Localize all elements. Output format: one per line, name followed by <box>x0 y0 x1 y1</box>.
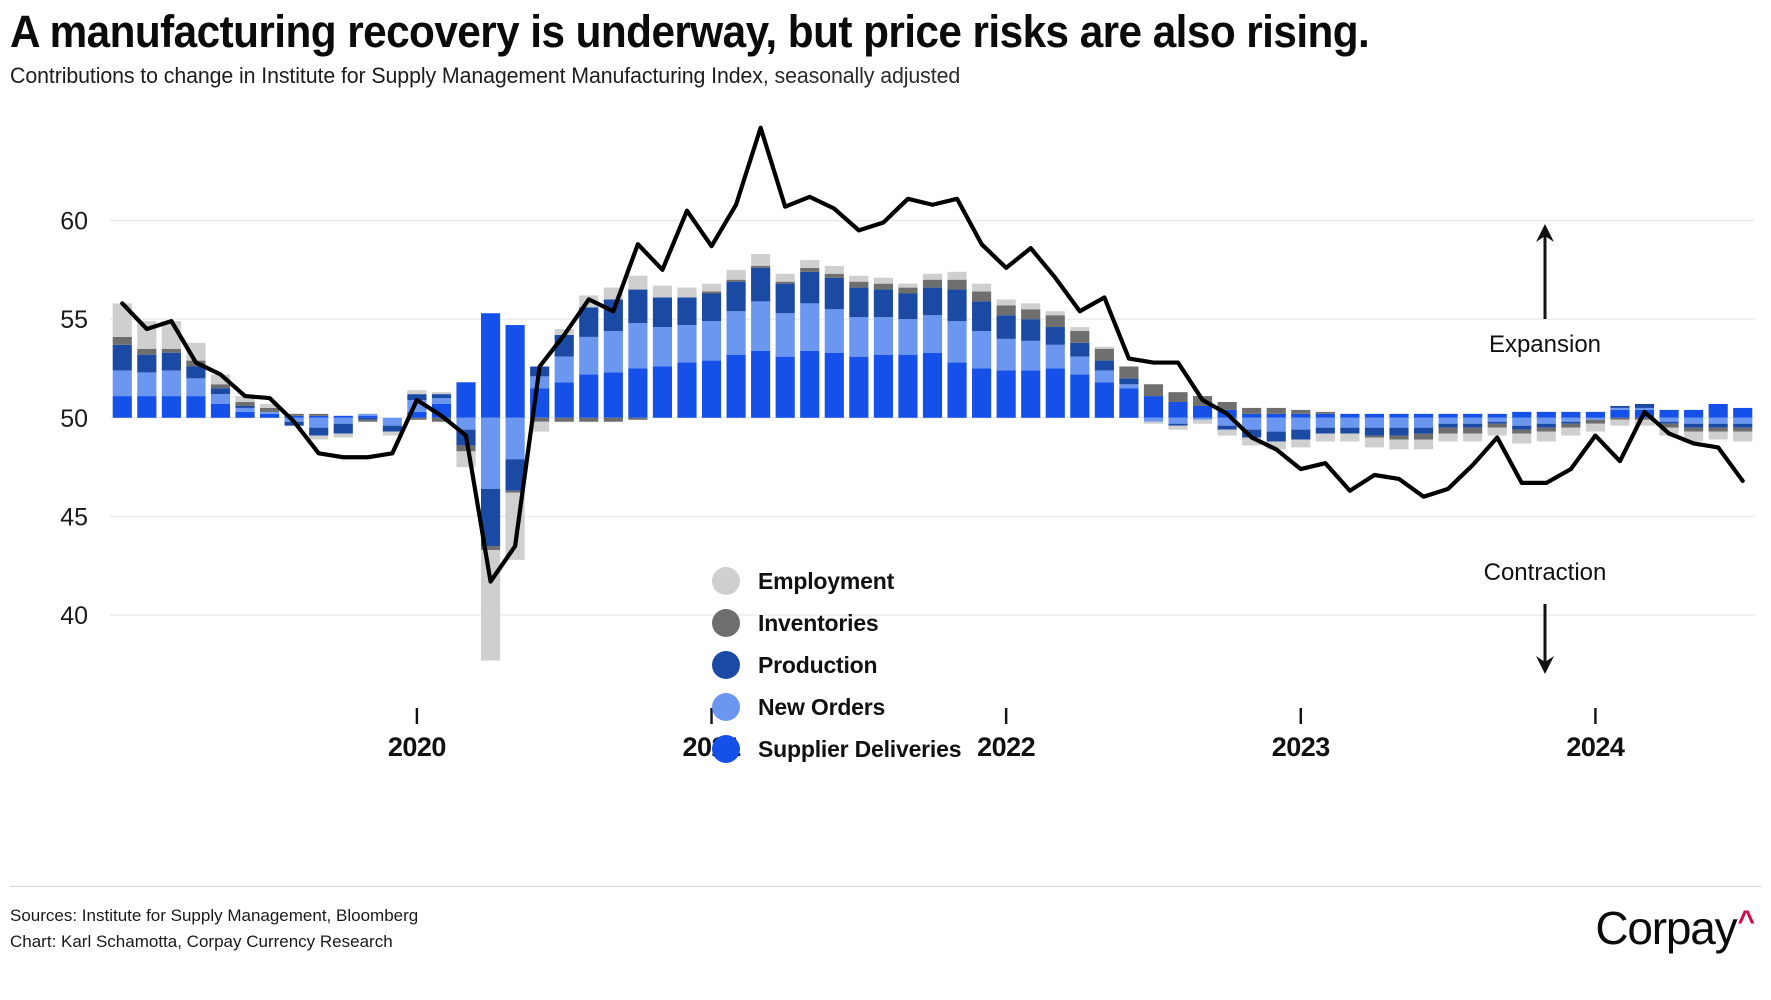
bar-segment <box>1095 370 1114 382</box>
bar-segment <box>923 280 942 288</box>
bar-segment <box>1193 418 1212 420</box>
bar-segment <box>1144 396 1163 418</box>
bar-segment <box>923 315 942 352</box>
bar-segment <box>1512 434 1531 444</box>
bar-segment <box>1635 404 1654 408</box>
bar-segment <box>456 382 475 418</box>
bar-segment <box>898 294 917 320</box>
bar-segment <box>628 276 647 290</box>
bar-segment <box>383 426 402 432</box>
bar-segment <box>579 374 598 417</box>
bar-segment <box>1659 410 1678 418</box>
bar-segment <box>898 319 917 355</box>
bar-segment <box>1291 430 1310 440</box>
bar-segment <box>1316 428 1335 434</box>
bar-segment <box>1512 418 1531 426</box>
bar-segment <box>1119 384 1138 388</box>
bar-segment <box>1389 414 1408 418</box>
bar-segment <box>604 418 623 422</box>
bar-segment <box>1095 347 1114 349</box>
bar-segment <box>727 280 746 282</box>
bar-segment <box>1733 432 1752 442</box>
legend-swatch-icon <box>712 567 740 595</box>
bar-segment <box>579 337 598 374</box>
bar-segment <box>653 327 672 366</box>
bar-segment <box>1414 428 1433 434</box>
bar-segment <box>235 408 254 412</box>
bar-segment <box>800 272 819 304</box>
y-axis-tick-label: 60 <box>60 208 88 236</box>
bar-segment <box>1389 436 1408 440</box>
bar-segment <box>997 315 1016 339</box>
bar-segment <box>776 274 795 282</box>
bar-segment <box>727 282 746 312</box>
bar-segment <box>653 297 672 327</box>
bar-segment <box>235 412 254 418</box>
brand-caret-icon: ^ <box>1737 907 1755 937</box>
bar-segment <box>186 367 205 379</box>
bar-segment <box>1414 434 1433 440</box>
bar-segment <box>162 370 181 396</box>
bar-segment <box>1709 432 1728 440</box>
legend-swatch-icon <box>712 609 740 637</box>
legend-item[interactable]: Production <box>712 644 1042 686</box>
bar-segment <box>334 434 353 438</box>
bar-segment <box>1439 434 1458 442</box>
x-axis-tick-label: 2024 <box>1566 732 1625 762</box>
bar-segment <box>751 268 770 302</box>
bar-segment <box>1561 428 1580 436</box>
legend-item-label: Supplier Deliveries <box>758 736 961 763</box>
bar-segment <box>1586 420 1605 424</box>
bar-segment <box>1610 418 1629 420</box>
bar-segment <box>1119 378 1138 384</box>
bar-segment <box>555 418 574 422</box>
bar-segment <box>677 288 696 298</box>
bar-segment <box>702 321 721 360</box>
x-axis-tick-label: 2023 <box>1272 732 1331 762</box>
bar-segment <box>898 284 917 288</box>
bar-segment <box>1291 418 1310 430</box>
bar-segment <box>653 286 672 298</box>
bar-segment <box>702 292 721 294</box>
bar-segment <box>1218 426 1237 430</box>
bar-segment <box>1291 414 1310 418</box>
bar-segment <box>1635 408 1654 410</box>
bar-segment <box>1168 426 1187 430</box>
bar-segment <box>1046 315 1065 327</box>
bar-segment <box>1242 414 1261 418</box>
bar-segment <box>260 408 279 412</box>
bar-segment <box>825 353 844 418</box>
bar-segment <box>874 284 893 290</box>
bar-segment <box>506 418 525 459</box>
legend-item-label: Inventories <box>758 610 879 637</box>
bar-segment <box>235 406 254 408</box>
bar-segment <box>1242 408 1261 414</box>
bar-segment <box>358 418 377 420</box>
bar-segment <box>947 272 966 280</box>
bar-segment <box>1365 436 1384 438</box>
bar-segment <box>1316 418 1335 428</box>
bar-segment <box>898 288 917 294</box>
bar-segment <box>309 428 328 436</box>
bar-segment <box>727 270 746 280</box>
legend-swatch-icon <box>712 651 740 679</box>
bar-segment <box>358 414 377 416</box>
subtitle-tail: , seasonally adjusted <box>763 63 960 88</box>
y-axis-tick-label: 40 <box>60 602 88 630</box>
bar-segment <box>1439 424 1458 428</box>
bar-segment <box>1070 357 1089 375</box>
bar-segment <box>825 309 844 352</box>
bar-segment <box>113 337 132 345</box>
bar-segment <box>849 276 868 282</box>
bar-segment <box>1365 414 1384 418</box>
bar-segment <box>1488 428 1507 436</box>
bar-segment <box>1267 408 1286 414</box>
page-title: A manufacturing recovery is underway, bu… <box>10 8 1646 55</box>
bar-segment <box>1267 418 1286 432</box>
bar-segment <box>972 284 991 292</box>
bar-segment <box>1340 434 1359 442</box>
bar-segment <box>1316 434 1335 442</box>
bar-segment <box>1537 424 1556 428</box>
bar-segment <box>972 368 991 417</box>
bar-segment <box>1095 349 1114 361</box>
bar-segment <box>1021 341 1040 371</box>
bar-segment <box>1488 418 1507 422</box>
expansion-label: Expansion <box>1489 331 1601 358</box>
bar-segment <box>1709 404 1728 418</box>
bar-segment <box>628 368 647 417</box>
bar-segment <box>1291 410 1310 414</box>
bar-segment <box>997 339 1016 371</box>
bar-segment <box>1365 438 1384 448</box>
bar-segment <box>825 266 844 274</box>
bar-segment <box>1463 414 1482 418</box>
bar-segment <box>947 363 966 418</box>
bar-segment <box>604 299 623 331</box>
bar-segment <box>1365 418 1384 428</box>
bar-segment <box>358 420 377 422</box>
bar-segment <box>849 357 868 418</box>
bar-segment <box>1684 424 1703 428</box>
bar-segment <box>1610 408 1629 410</box>
bar-segment <box>555 357 574 383</box>
bar-segment <box>849 282 868 288</box>
bar-segment <box>211 384 230 388</box>
bar-segment <box>1168 424 1187 426</box>
bar-segment <box>1119 367 1138 379</box>
bar-segment <box>334 418 353 424</box>
bar-segment <box>1586 412 1605 418</box>
bar-segment <box>1537 432 1556 442</box>
bar-segment <box>677 363 696 418</box>
bar-segment <box>432 392 451 394</box>
bar-segment <box>1046 368 1065 417</box>
bar-segment <box>972 331 991 368</box>
sources-line-1: Sources: Institute for Supply Management… <box>10 903 418 929</box>
bar-segment <box>1610 410 1629 418</box>
bar-segment <box>800 303 819 350</box>
bar-segment <box>211 394 230 404</box>
bar-segment <box>1168 418 1187 424</box>
bar-segment <box>1488 422 1507 424</box>
bar-segment <box>1144 384 1163 396</box>
bar-segment <box>1267 432 1286 442</box>
bar-segment <box>947 290 966 322</box>
bar-segment <box>1119 388 1138 418</box>
bar-segment <box>947 280 966 290</box>
bar-segment <box>1168 392 1187 402</box>
bar-segment <box>1439 418 1458 424</box>
bar-segment <box>874 317 893 354</box>
bar-segment <box>1242 418 1261 430</box>
bar-segment <box>751 254 770 266</box>
bar-segment <box>1414 418 1433 428</box>
bar-segment <box>1021 309 1040 319</box>
bar-segment <box>211 388 230 394</box>
bar-segment <box>1389 428 1408 436</box>
bar-segment <box>1316 412 1335 414</box>
bar-segment <box>555 382 574 418</box>
bar-segment <box>1414 414 1433 418</box>
bar-segment <box>653 367 672 418</box>
bar-segment <box>260 412 279 414</box>
bar-segment <box>1365 428 1384 436</box>
bar-segment <box>162 353 181 371</box>
bar-segment <box>800 268 819 272</box>
bar-segment <box>1537 418 1556 424</box>
bar-segment <box>1168 402 1187 418</box>
chart-header: A manufacturing recovery is underway, bu… <box>10 8 1750 89</box>
bar-segment <box>1537 412 1556 418</box>
bar-segment <box>1193 420 1212 424</box>
bar-segment <box>481 418 500 489</box>
bar-segment <box>113 370 132 396</box>
legend-swatch-icon <box>712 693 740 721</box>
bar-segment <box>628 290 647 324</box>
bar-segment <box>137 396 156 418</box>
bar-segment <box>1218 430 1237 436</box>
y-axis-tick-label: 45 <box>60 503 88 531</box>
bar-segment <box>1340 414 1359 418</box>
page-subtitle: Contributions to change in Institute for… <box>10 63 1698 89</box>
bar-segment <box>1439 428 1458 434</box>
bar-segment <box>1733 428 1752 432</box>
legend-item-label: New Orders <box>758 694 885 721</box>
bar-segment <box>1439 414 1458 418</box>
bar-segment <box>1610 406 1629 408</box>
legend-item-label: Employment <box>758 568 894 595</box>
bar-segment <box>432 394 451 398</box>
bar-segment <box>874 355 893 418</box>
bar-segment <box>727 311 746 354</box>
bar-segment <box>1070 331 1089 343</box>
x-axis-tick-label: 2020 <box>388 732 446 762</box>
bar-segment <box>776 357 795 418</box>
footer-divider <box>10 886 1761 887</box>
bar-segment <box>1561 418 1580 422</box>
bar-segment <box>1684 410 1703 418</box>
bar-segment <box>825 274 844 278</box>
bar-segment <box>186 396 205 418</box>
bar-segment <box>1561 422 1580 424</box>
bar-segment <box>1709 424 1728 428</box>
subtitle-main: Contributions to change in Institute for… <box>10 63 763 88</box>
y-axis-tick-labels: 4045505560 <box>60 208 88 631</box>
bar-segment <box>800 260 819 268</box>
bar-segment <box>113 396 132 418</box>
legend-item[interactable]: Employment <box>712 560 1042 602</box>
bar-segment <box>972 301 991 331</box>
sources-block: Sources: Institute for Supply Management… <box>10 903 418 954</box>
bar-segment <box>1537 428 1556 432</box>
bar-segment <box>432 398 451 404</box>
bar-segment <box>727 355 746 418</box>
bar-segment <box>898 355 917 418</box>
bar-segment <box>776 284 795 314</box>
bar-segment <box>751 301 770 350</box>
bar-segment <box>947 321 966 362</box>
bar-segment <box>1684 418 1703 424</box>
bar-segment <box>1046 327 1065 345</box>
bar-segment <box>702 361 721 418</box>
bar-segment <box>1659 422 1678 424</box>
bar-segment <box>997 305 1016 315</box>
bar-segment <box>358 416 377 418</box>
bar-segment <box>923 274 942 280</box>
bar-segment <box>997 299 1016 305</box>
bar-segment <box>628 418 647 420</box>
bar-segment <box>776 313 795 356</box>
bar-segment <box>604 331 623 372</box>
bar-segment <box>260 414 279 418</box>
bar-segment <box>309 418 328 428</box>
bar-segment <box>1512 426 1531 430</box>
bar-segment <box>972 292 991 302</box>
bar-segment <box>309 436 328 440</box>
bar-segment <box>1267 414 1286 418</box>
bar-segment <box>997 370 1016 417</box>
bar-segment <box>481 313 500 418</box>
legend-item[interactable]: New Orders <box>712 686 1042 728</box>
bar-segment <box>309 416 328 418</box>
bar-segment <box>186 378 205 396</box>
chart-legend: EmploymentInventoriesProductionNew Order… <box>712 560 1042 770</box>
bar-segment <box>776 282 795 284</box>
bar-segment <box>137 355 156 373</box>
bar-segment <box>137 349 156 355</box>
legend-item[interactable]: Inventories <box>712 602 1042 644</box>
y-axis-tick-label: 50 <box>60 405 88 433</box>
bar-segment <box>579 418 598 422</box>
bar-segment <box>506 325 525 418</box>
bar-segment <box>481 550 500 660</box>
y-axis-tick-label: 55 <box>60 306 88 334</box>
bar-segment <box>1733 408 1752 418</box>
bar-segment <box>1512 412 1531 418</box>
bar-segment <box>702 294 721 322</box>
bar-segment <box>1463 418 1482 424</box>
bar-segment <box>309 414 328 416</box>
bar-segment <box>137 372 156 396</box>
bar-segment <box>1659 418 1678 422</box>
bar-segment <box>849 317 868 356</box>
bar-segment <box>1733 424 1752 428</box>
bar-segment <box>1488 414 1507 418</box>
bar-segment <box>751 351 770 418</box>
bar-segment <box>874 278 893 284</box>
bar-segment <box>1463 434 1482 442</box>
bar-segment <box>407 390 426 394</box>
bar-segment <box>702 284 721 292</box>
bar-segment <box>1046 311 1065 315</box>
bar-segment <box>1340 428 1359 434</box>
bar-segment <box>1561 424 1580 428</box>
bar-segment <box>1463 428 1482 434</box>
bar-segment <box>1709 428 1728 432</box>
bar-segment <box>1070 327 1089 331</box>
sources-line-2: Chart: Karl Schamotta, Corpay Currency R… <box>10 929 418 955</box>
bar-segment <box>1021 303 1040 309</box>
bar-segment <box>383 418 402 426</box>
bar-segment <box>1144 422 1163 424</box>
bar-segment <box>334 416 353 418</box>
bar-segment <box>1512 430 1531 434</box>
bar-segment <box>677 325 696 362</box>
bar-segment <box>1684 428 1703 432</box>
bar-segment <box>923 353 942 418</box>
bar-segment <box>825 278 844 310</box>
bar-segment <box>1070 374 1089 417</box>
brand-name: Corpay <box>1595 905 1736 951</box>
bar-segment <box>1095 382 1114 418</box>
bar-segment <box>874 290 893 318</box>
bar-segment <box>677 297 696 325</box>
bar-segment <box>1488 424 1507 428</box>
bar-segment <box>751 266 770 268</box>
bar-segment <box>1586 424 1605 432</box>
bar-segment <box>1561 412 1580 418</box>
bar-segment <box>1144 418 1163 422</box>
chart-page: A manufacturing recovery is underway, bu… <box>0 0 1771 1000</box>
bar-segment <box>604 372 623 417</box>
bar-segment <box>1021 370 1040 417</box>
bar-segment <box>1389 440 1408 450</box>
bar-segment <box>1586 418 1605 420</box>
contraction-label: Contraction <box>1484 559 1607 586</box>
legend-item-label: Production <box>758 652 877 679</box>
bar-segment <box>1291 440 1310 448</box>
bar-segment <box>1414 440 1433 450</box>
bar-segment <box>1193 406 1212 418</box>
legend-swatch-icon <box>712 735 740 763</box>
bar-segment <box>1709 418 1728 424</box>
corpay-logo: Corpay ^ <box>1595 905 1755 951</box>
bar-segment <box>800 351 819 418</box>
bar-segment <box>923 288 942 316</box>
bar-segment <box>628 323 647 368</box>
bar-segment <box>162 396 181 418</box>
bar-segment <box>1610 420 1629 426</box>
bar-segment <box>1070 343 1089 357</box>
bar-segment <box>1316 414 1335 418</box>
bar-segment <box>849 288 868 318</box>
legend-item[interactable]: Supplier Deliveries <box>712 728 1042 770</box>
bar-segment <box>1340 418 1359 428</box>
